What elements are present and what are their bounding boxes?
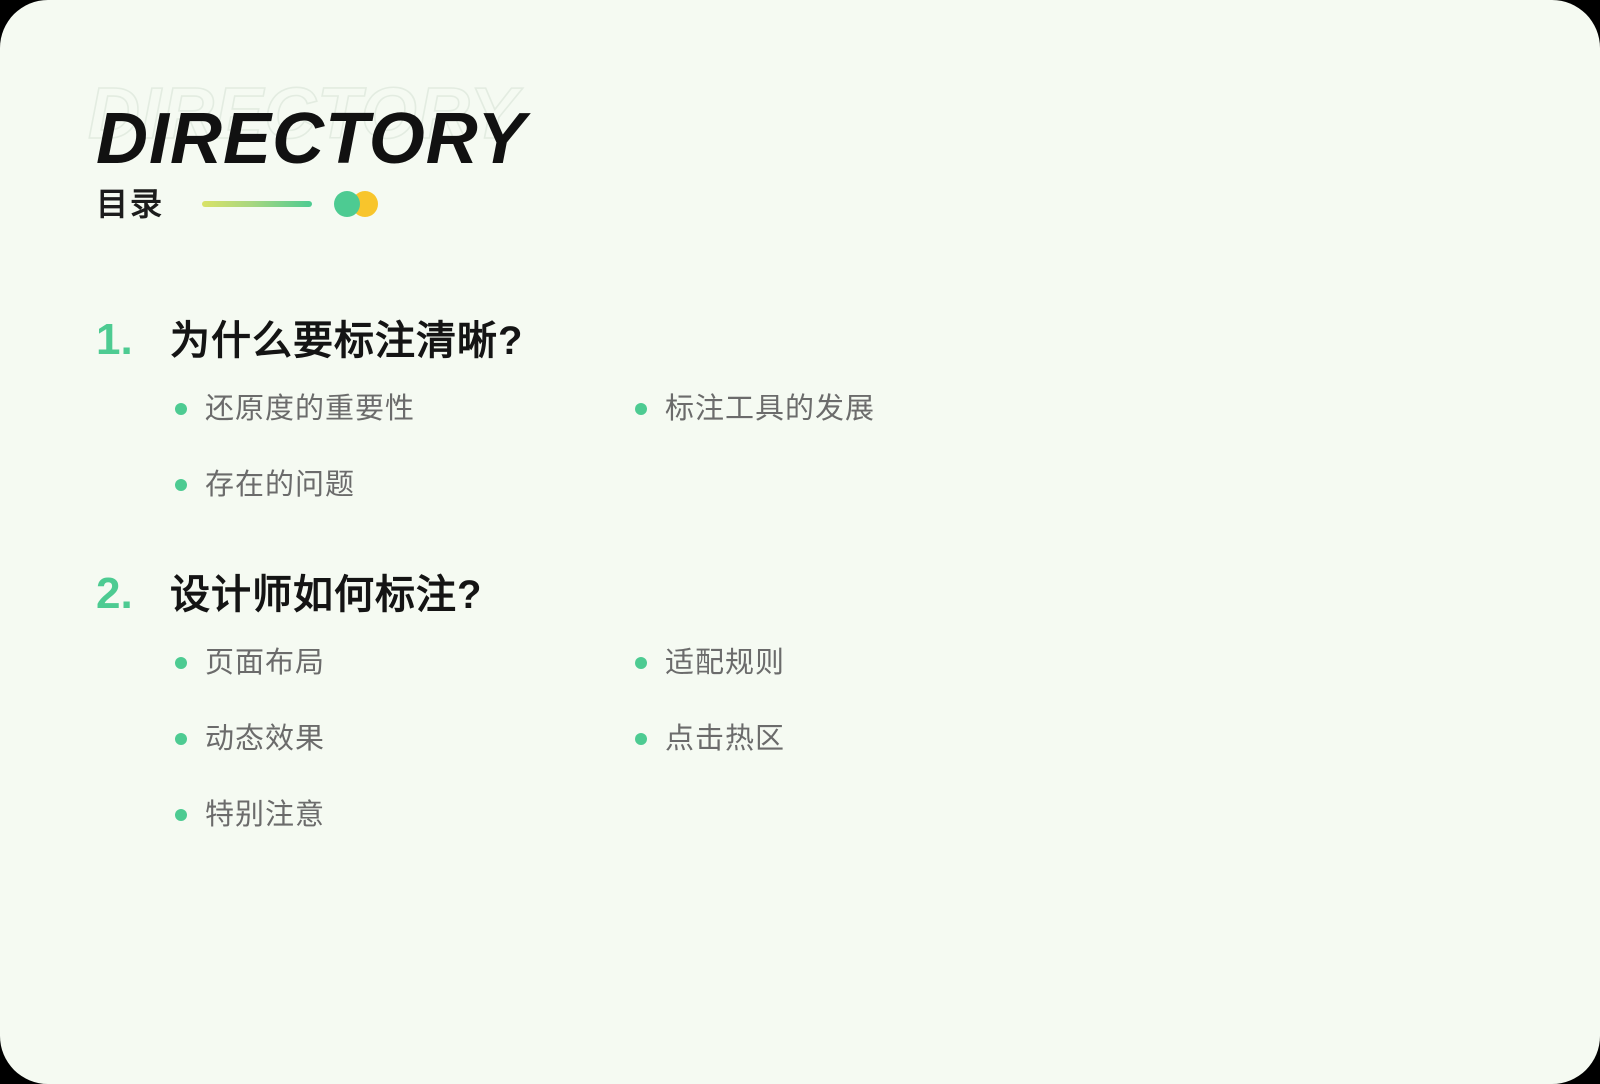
section-2-title[interactable]: 设计师如何标注?	[170, 575, 482, 615]
list-item[interactable]: 动态效果	[175, 718, 635, 760]
section-1-number: 1.	[96, 318, 170, 362]
directory-slide: DIRECTORY DIRECTORY 目录 1. 为什么要标注清晰? 还原度的…	[0, 0, 1600, 1084]
bullet-dot-icon	[175, 479, 187, 491]
section-1-heading: 1. 为什么要标注清晰?	[96, 318, 1506, 362]
bullet-dot-icon	[175, 403, 187, 415]
list-item[interactable]: 还原度的重要性	[175, 388, 635, 430]
list-item-label: 动态效果	[205, 722, 325, 757]
list-item-label: 点击热区	[665, 722, 785, 757]
list-item[interactable]: 标注工具的发展	[635, 388, 1095, 430]
list-item[interactable]: 存在的问题	[175, 464, 635, 506]
page-title: DIRECTORY	[96, 96, 526, 182]
list-item-label: 页面布局	[205, 646, 325, 681]
list-item[interactable]: 点击热区	[635, 718, 1095, 760]
sections-list: 1. 为什么要标注清晰? 还原度的重要性 标注工具的发展 存在的问题	[96, 318, 1506, 836]
section-2-items: 页面布局 适配规则 动态效果 点击热区 特别注意	[96, 642, 1506, 836]
bullet-dot-icon	[635, 403, 647, 415]
bullet-dot-icon	[635, 657, 647, 669]
subtitle-row: 目录	[96, 182, 380, 226]
gradient-rule-divider	[202, 201, 312, 207]
slide-header: DIRECTORY DIRECTORY 目录	[96, 96, 796, 236]
green-dot-icon	[334, 191, 360, 217]
list-item-label: 标注工具的发展	[665, 392, 875, 427]
bullet-dot-icon	[175, 733, 187, 745]
section-2: 2. 设计师如何标注? 页面布局 适配规则 动态效果 点击热区	[96, 572, 1506, 836]
section-2-heading: 2. 设计师如何标注?	[96, 572, 1506, 616]
section-1-items: 还原度的重要性 标注工具的发展 存在的问题	[96, 388, 1506, 506]
list-item[interactable]: 页面布局	[175, 642, 635, 684]
bullet-dot-icon	[635, 733, 647, 745]
subtitle-chinese: 目录	[96, 188, 164, 220]
decorative-dots	[334, 191, 380, 217]
list-item-label: 还原度的重要性	[205, 392, 415, 427]
title-stack: DIRECTORY DIRECTORY	[96, 96, 796, 182]
list-item-label: 特别注意	[205, 798, 325, 833]
list-item-label: 存在的问题	[205, 468, 355, 503]
section-2-number: 2.	[96, 572, 170, 616]
section-1: 1. 为什么要标注清晰? 还原度的重要性 标注工具的发展 存在的问题	[96, 318, 1506, 506]
list-item-label: 适配规则	[665, 646, 785, 681]
bullet-dot-icon	[175, 657, 187, 669]
section-1-title[interactable]: 为什么要标注清晰?	[170, 321, 523, 361]
list-item[interactable]: 特别注意	[175, 794, 635, 836]
list-item[interactable]: 适配规则	[635, 642, 1095, 684]
bullet-dot-icon	[175, 809, 187, 821]
